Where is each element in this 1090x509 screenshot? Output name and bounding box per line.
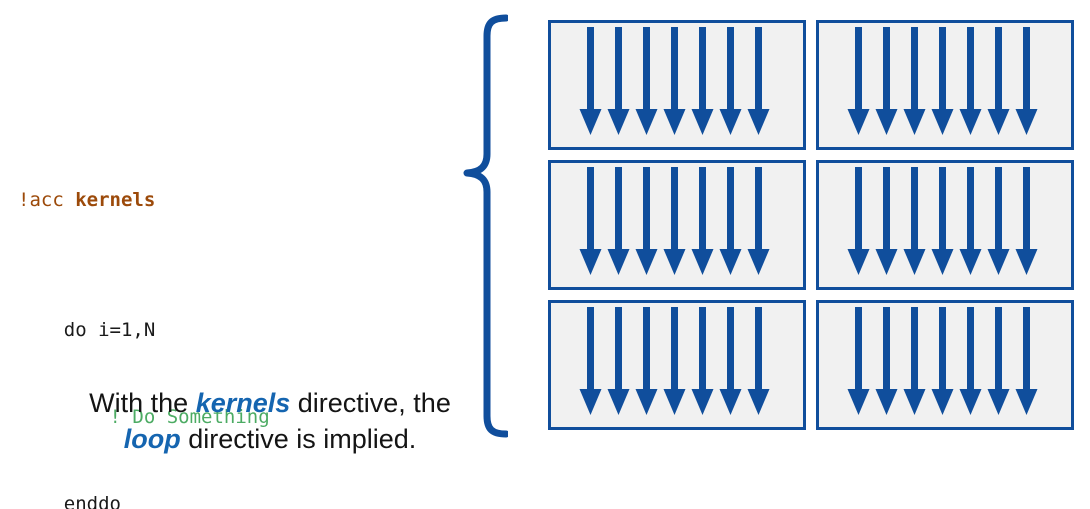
down-arrow bbox=[580, 27, 602, 135]
thread-block-grid bbox=[548, 20, 1074, 430]
down-arrow bbox=[692, 307, 714, 415]
down-arrow bbox=[636, 307, 658, 415]
down-arrow bbox=[608, 307, 630, 415]
down-arrow bbox=[848, 307, 870, 415]
down-arrow bbox=[1016, 167, 1038, 275]
thread-block-cell bbox=[548, 300, 806, 430]
thread-block-cell bbox=[548, 20, 806, 150]
down-arrow bbox=[720, 27, 742, 135]
down-arrow bbox=[988, 167, 1010, 275]
arrow-group bbox=[848, 27, 1038, 135]
arrow-group bbox=[848, 307, 1038, 415]
down-arrow bbox=[904, 27, 926, 135]
thread-block-cell bbox=[816, 20, 1074, 150]
directive-keyword: kernels bbox=[75, 189, 155, 211]
down-arrow bbox=[960, 167, 982, 275]
down-arrow bbox=[580, 167, 602, 275]
down-arrow bbox=[748, 27, 770, 135]
down-arrow bbox=[876, 167, 898, 275]
left-curly-brace bbox=[462, 14, 508, 438]
down-arrow bbox=[608, 167, 630, 275]
slide-canvas: !acc kernels do i=1,N ! Do Something end… bbox=[0, 0, 1090, 509]
caption-keyword-loop: loop bbox=[124, 424, 181, 454]
thread-block-cell bbox=[816, 160, 1074, 290]
down-arrow bbox=[1016, 27, 1038, 135]
down-arrow bbox=[848, 27, 870, 135]
arrow-group bbox=[580, 27, 770, 135]
down-arrow bbox=[960, 27, 982, 135]
caption-part-1: With the bbox=[89, 388, 196, 418]
down-arrow bbox=[580, 307, 602, 415]
down-arrow bbox=[932, 167, 954, 275]
down-arrow bbox=[932, 307, 954, 415]
arrow-group bbox=[580, 307, 770, 415]
caption-text: With the kernels directive, the loop dir… bbox=[60, 385, 480, 457]
down-arrow bbox=[932, 27, 954, 135]
down-arrow bbox=[988, 27, 1010, 135]
down-arrow bbox=[692, 167, 714, 275]
down-arrow bbox=[876, 307, 898, 415]
down-arrow bbox=[748, 307, 770, 415]
arrow-group bbox=[848, 167, 1038, 275]
down-arrow bbox=[904, 307, 926, 415]
down-arrow bbox=[692, 27, 714, 135]
code-line-directive: !acc kernels bbox=[18, 186, 327, 215]
code-line-do-1: do i=1,N bbox=[18, 316, 327, 345]
down-arrow bbox=[636, 27, 658, 135]
caption-part-3: directive is implied. bbox=[181, 424, 417, 454]
thread-block-cell bbox=[548, 160, 806, 290]
caption-part-2: directive, the bbox=[290, 388, 451, 418]
arrow-group bbox=[580, 167, 770, 275]
down-arrow bbox=[608, 27, 630, 135]
down-arrow bbox=[960, 307, 982, 415]
thread-block-cell bbox=[816, 300, 1074, 430]
down-arrow bbox=[720, 167, 742, 275]
down-arrow bbox=[664, 167, 686, 275]
down-arrow bbox=[636, 167, 658, 275]
down-arrow bbox=[848, 167, 870, 275]
caption-keyword-kernels: kernels bbox=[196, 388, 291, 418]
down-arrow bbox=[904, 167, 926, 275]
directive-sigil: !acc bbox=[18, 189, 75, 211]
down-arrow bbox=[720, 307, 742, 415]
code-line-enddo-1: enddo bbox=[18, 490, 327, 509]
down-arrow bbox=[748, 167, 770, 275]
down-arrow bbox=[988, 307, 1010, 415]
down-arrow bbox=[664, 27, 686, 135]
down-arrow bbox=[664, 307, 686, 415]
down-arrow bbox=[876, 27, 898, 135]
down-arrow bbox=[1016, 307, 1038, 415]
